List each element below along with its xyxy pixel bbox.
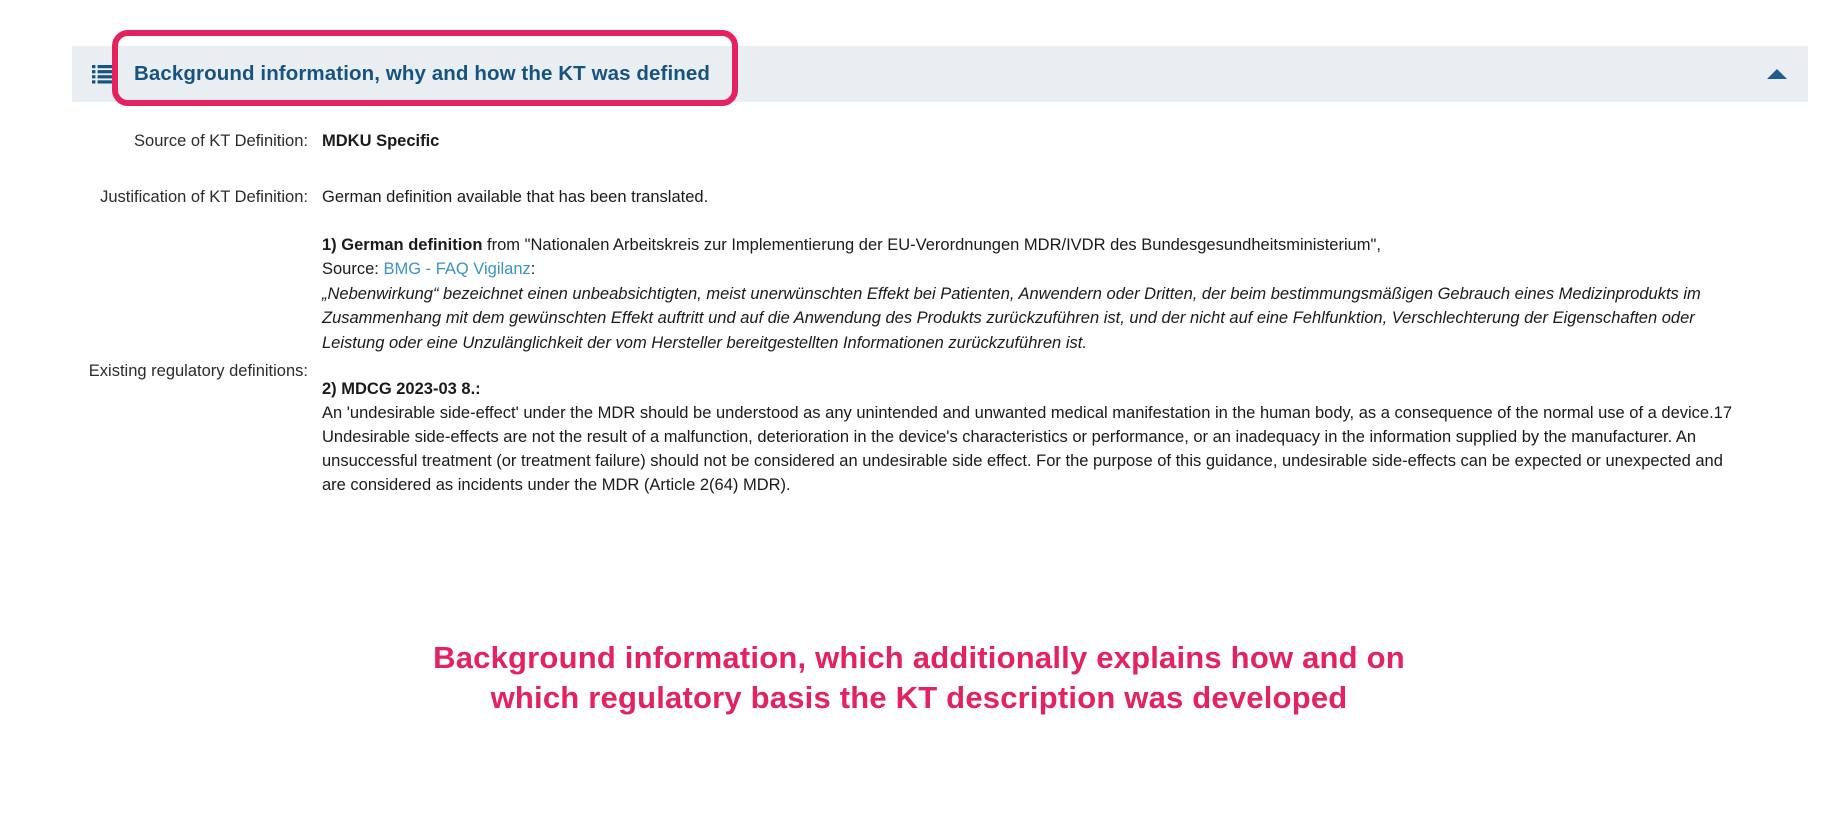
definition-1-heading-line: 1) German definition from "Nationalen Ar… (322, 234, 1742, 258)
definition-1-source-line: Source: BMG - FAQ Vigilanz: (322, 258, 1742, 282)
section-title: Background information, why and how the … (134, 62, 710, 86)
paragraph-spacer (322, 356, 1742, 378)
justification-of-kt-definition-label: Justification of KT Definition: (72, 186, 308, 210)
annotation-caption: Background information, which additional… (0, 638, 1838, 717)
field-row-source: Source of KT Definition: MDKU Specific (72, 130, 1808, 154)
field-row-existing-regulatory-definitions: Existing regulatory definitions: 1) Germ… (72, 234, 1808, 498)
definition-2-body: An 'undesirable side-effect' under the M… (322, 402, 1742, 498)
section-header[interactable]: Background information, why and how the … (72, 46, 1808, 102)
definition-1-heading: German definition (337, 236, 483, 254)
annotation-caption-line-1: Background information, which additional… (0, 638, 1838, 678)
list-icon (92, 64, 134, 84)
existing-regulatory-definitions-value: 1) German definition from "Nationalen Ar… (308, 234, 1742, 498)
background-information-panel: Background information, why and how the … (72, 46, 1808, 498)
existing-regulatory-definitions-label: Existing regulatory definitions: (72, 360, 308, 384)
annotation-caption-line-2: which regulatory basis the KT descriptio… (0, 678, 1838, 718)
source-of-kt-definition-label: Source of KT Definition: (72, 130, 308, 154)
definition-1-number: 1) (322, 236, 337, 254)
section-body: Source of KT Definition: MDKU Specific J… (72, 102, 1808, 498)
bmg-faq-vigilanz-link[interactable]: BMG - FAQ Vigilanz (383, 260, 530, 278)
justification-of-kt-definition-value: German definition available that has bee… (308, 186, 1742, 210)
chevron-up-icon[interactable] (1764, 61, 1790, 87)
source-of-kt-definition-value: MDKU Specific (308, 130, 1742, 154)
field-row-justification: Justification of KT Definition: German d… (72, 186, 1808, 210)
german-definition-quote: „Nebenwirkung“ bezeichnet einen unbeabsi… (322, 282, 1742, 356)
definition-1-lead: from "Nationalen Arbeitskreis zur Implem… (482, 236, 1381, 254)
source-label: Source: (322, 260, 383, 278)
definition-2-heading: 2) MDCG 2023-03 8.: (322, 378, 1742, 402)
link-suffix: : (531, 260, 536, 278)
